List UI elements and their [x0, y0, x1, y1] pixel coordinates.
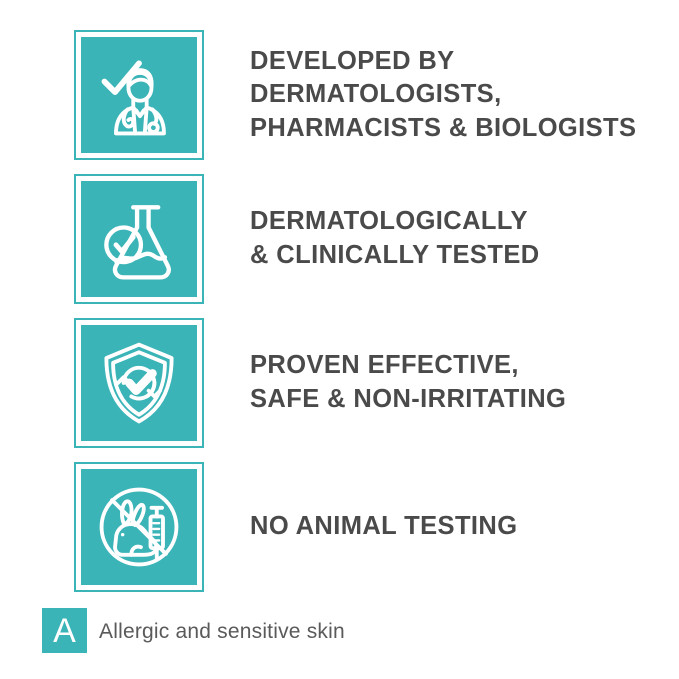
doctor-check-icon: [91, 47, 187, 143]
icon-tile-no-animal-testing: [74, 462, 204, 592]
feature-row: PROVEN EFFECTIVE, SAFE & NON-IRRITATING: [0, 318, 679, 448]
feature-row: DEVELOPED BY DERMATOLOGISTS, PHARMACISTS…: [0, 30, 679, 160]
feature-line: DERMATOLOGICALLY: [250, 205, 665, 239]
feature-line: NO ANIMAL TESTING: [250, 510, 665, 544]
icon-tile-fill: [81, 181, 197, 297]
feature-line: & CLINICALLY TESTED: [250, 239, 665, 273]
feature-line: DERMATOLOGISTS,: [250, 78, 665, 112]
icon-tile-shield: [74, 318, 204, 448]
allergic-skin-badge: A: [42, 608, 87, 653]
feature-line: DEVELOPED BY: [250, 45, 665, 79]
no-animal-testing-icon: [91, 479, 187, 575]
icon-tile-doctor: [74, 30, 204, 160]
feature-row: DERMATOLOGICALLY & CLINICALLY TESTED: [0, 174, 679, 304]
footer: A Allergic and sensitive skin: [0, 604, 679, 660]
feature-infographic: DEVELOPED BY DERMATOLOGISTS, PHARMACISTS…: [0, 0, 679, 679]
feature-text-flask: DERMATOLOGICALLY & CLINICALLY TESTED: [250, 174, 665, 304]
badge-letter: A: [53, 614, 76, 648]
feature-line: SAFE & NON-IRRITATING: [250, 383, 665, 417]
feature-text-no-animal-testing: NO ANIMAL TESTING: [250, 462, 665, 592]
footer-label: Allergic and sensitive skin: [99, 604, 345, 660]
feature-line: PHARMACISTS & BIOLOGISTS: [250, 112, 665, 146]
feature-row: NO ANIMAL TESTING: [0, 462, 679, 592]
feature-text-shield: PROVEN EFFECTIVE, SAFE & NON-IRRITATING: [250, 318, 665, 448]
shield-check-icon: [91, 335, 187, 431]
icon-tile-fill: [81, 469, 197, 585]
icon-tile-fill: [81, 37, 197, 153]
icon-tile-flask: [74, 174, 204, 304]
feature-line: PROVEN EFFECTIVE,: [250, 349, 665, 383]
flask-check-icon: [91, 191, 187, 287]
icon-tile-fill: [81, 325, 197, 441]
feature-text-doctor: DEVELOPED BY DERMATOLOGISTS, PHARMACISTS…: [250, 30, 665, 160]
